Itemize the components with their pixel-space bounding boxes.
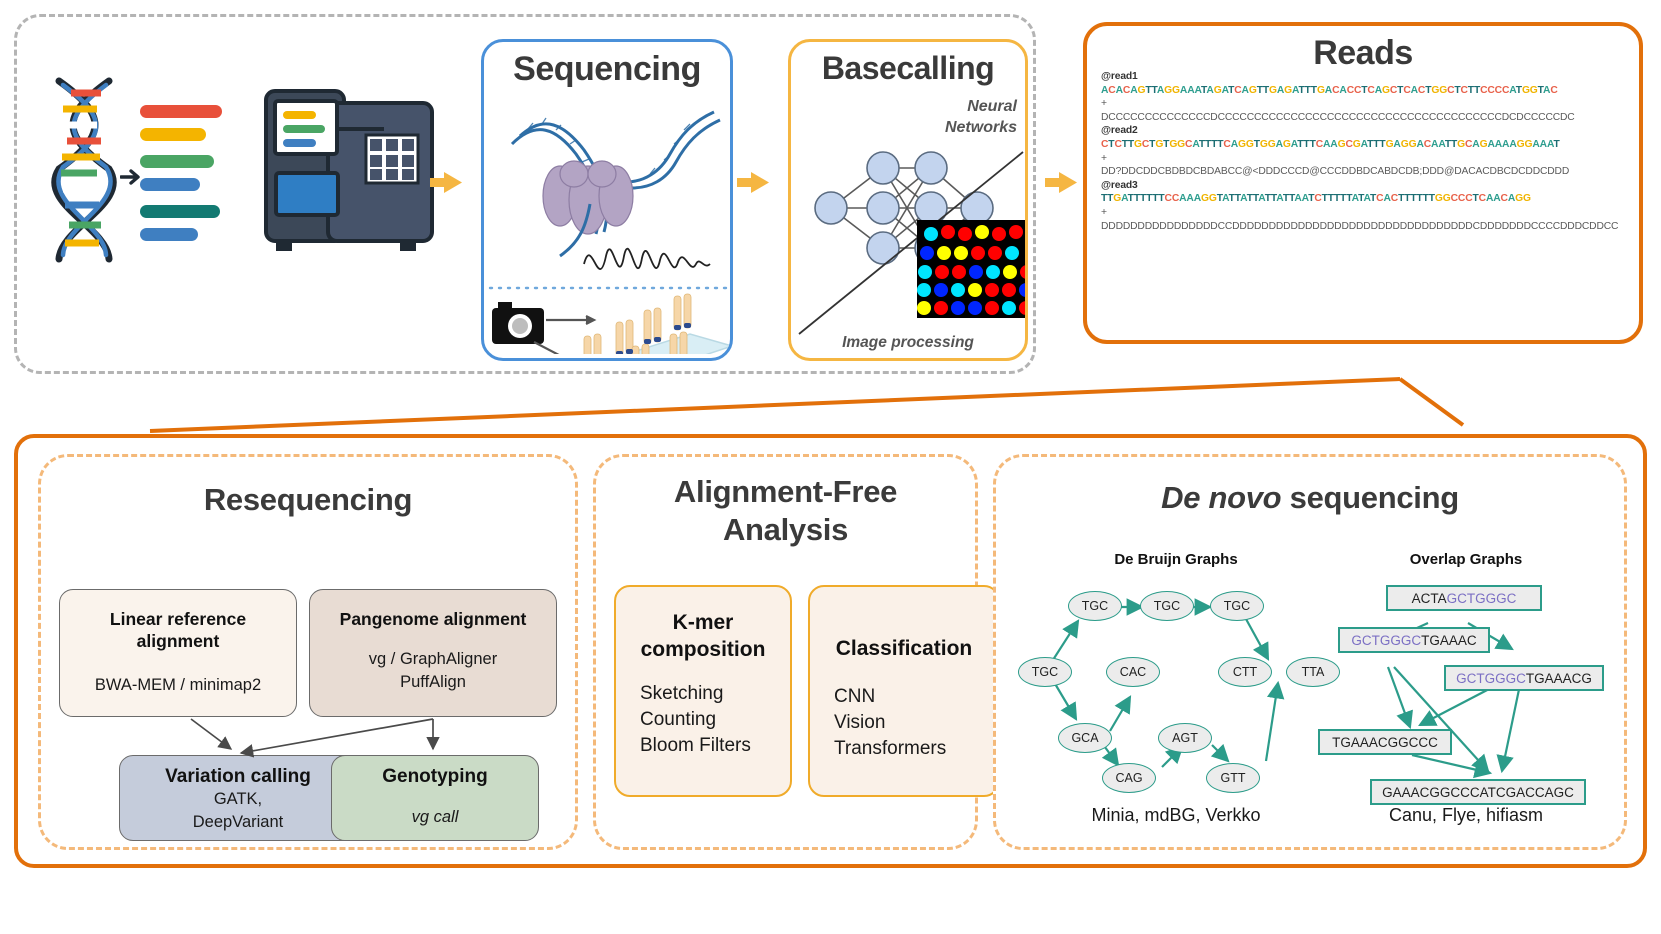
kmer-title-line2: composition	[616, 636, 790, 663]
top-stage-group: Sequencing	[14, 14, 1036, 374]
dbnode-9: CAG	[1102, 763, 1156, 793]
classification-item-2: Transformers	[834, 736, 998, 762]
camera-icon	[492, 302, 544, 344]
ovbox-4: GAAACGGCCCATCGACCAGC	[1370, 779, 1586, 805]
dna-fragments-icon	[140, 105, 225, 240]
dna-helix-icon	[45, 75, 125, 265]
ovbox-1: GCTGGGCTGAAAC	[1338, 627, 1490, 653]
panel-sequencing: Sequencing	[481, 39, 733, 361]
read-header: @read3	[1101, 179, 1629, 193]
dbnode-1: TGC	[1068, 591, 1122, 621]
kmer-item-1: Counting	[640, 707, 790, 733]
dbnode-2: TGC	[1140, 591, 1194, 621]
group-resequencing: Resequencing Linear reference alignment …	[38, 454, 578, 850]
de-bruijn-heading: De Bruijn Graphs	[1036, 551, 1316, 568]
read-plus-line: +	[1101, 206, 1629, 220]
de-novo-title-italic: De novo	[1161, 480, 1281, 515]
box-classification: Classification CNN Vision Transformers	[808, 585, 1000, 797]
dbnode-3: TGC	[1210, 591, 1264, 621]
panel-basecalling: Basecalling Neural Networks	[788, 39, 1028, 361]
ovbox-1-post: TGAAAC	[1421, 633, 1477, 648]
alignment-free-title-line1: Alignment-Free	[596, 473, 975, 511]
kmer-item-0: Sketching	[640, 681, 790, 707]
de-bruijn-footer: Minia, mdBG, Verkko	[1036, 805, 1316, 826]
read-sequence: ACACAGTTAGGAAATAGATCAGTTGAGATTTGACACCTCA…	[1101, 84, 1629, 98]
classification-title: Classification	[810, 635, 998, 662]
panel-reads: Reads @read1ACACAGTTAGGAAATAGATCAGTTGAGA…	[1083, 22, 1643, 344]
funnel-connector	[150, 379, 1463, 431]
group-alignment-free: Alignment-Free Analysis K-mer compositio…	[593, 454, 978, 850]
dbnode-0: TGC	[1018, 657, 1072, 687]
read-quality: DCCCCCCCCCCCCCCDCCCCCCCCCCCCCCCCCCCCCCCC…	[1101, 111, 1629, 125]
cluster-image-icon	[917, 220, 1028, 318]
classification-item-0: CNN	[834, 684, 998, 710]
downstream-analysis-container: Resequencing Linear reference alignment …	[14, 434, 1647, 868]
diagram-canvas: Sequencing	[0, 0, 1661, 934]
sequencer-machine-icon	[262, 77, 442, 267]
neural-network-illustration	[791, 90, 1028, 340]
image-processing-label: Image processing	[791, 334, 1025, 352]
basecalling-title: Basecalling	[791, 50, 1025, 87]
read-plus-line: +	[1101, 152, 1629, 166]
arrow-basecalling-to-reads	[1045, 172, 1077, 193]
dbnode-10: GTT	[1206, 763, 1260, 793]
read-header: @read1	[1101, 70, 1629, 84]
ovbox-2-hl: GCTGGGC	[1456, 671, 1526, 686]
read-header: @read2	[1101, 124, 1629, 138]
classification-item-1: Vision	[834, 710, 998, 736]
group-de-novo: De novo sequencing De Bruijn Graphs Over…	[993, 454, 1627, 850]
reads-title: Reads	[1087, 34, 1639, 73]
box-kmer-composition: K-mer composition Sketching Counting Blo…	[614, 585, 792, 797]
dbnode-8: AGT	[1158, 723, 1212, 753]
ovbox-0-pre: ACTA	[1412, 591, 1447, 606]
ovbox-2: GCTGGGCTGAAACG	[1444, 665, 1604, 691]
overlap-footer: Canu, Flye, hifiasm	[1326, 805, 1606, 826]
alignment-free-title-line2: Analysis	[596, 511, 975, 549]
read-sequence: TTGATTTTTTCCAAAGGTATTATTATTATTAATCTTTTTA…	[1101, 192, 1629, 206]
read-quality: DDDDDDDDDDDDDDDDCCDDDDDDDDDDDDDDDDDDDDDD…	[1101, 220, 1629, 234]
dbnode-7: GCA	[1058, 723, 1112, 753]
read-sequence: CTCTTGCTGTGGCATTTTCAGGTGGAGATTTCAAGCGATT…	[1101, 138, 1629, 152]
overlap-heading: Overlap Graphs	[1326, 551, 1606, 568]
nanopore-illustration	[484, 84, 733, 354]
ovbox-3: TGAAACGGCCC	[1318, 729, 1452, 755]
dbnode-4: CAC	[1106, 657, 1160, 687]
reads-fastq-content: @read1ACACAGTTAGGAAATAGATCAGTTGAGATTTGAC…	[1101, 70, 1629, 334]
ovbox-0: ACTAGCTGGGC	[1386, 585, 1542, 611]
ovbox-1-hl: GCTGGGC	[1351, 633, 1421, 648]
dbnode-5: CTT	[1218, 657, 1272, 687]
kmer-title-line1: K-mer	[616, 609, 790, 636]
ovbox-2-post: TGAAACG	[1526, 671, 1592, 686]
resequencing-arrows	[41, 457, 581, 853]
read-plus-line: +	[1101, 97, 1629, 111]
de-novo-title-rest: sequencing	[1281, 480, 1459, 515]
read-quality: DD?DDCDDCBDBDCBDABCC@<DDDCCCD@CCCDDBDCAB…	[1101, 165, 1629, 179]
kmer-item-2: Bloom Filters	[640, 733, 790, 759]
ovbox-0-hl: GCTGGGC	[1447, 591, 1517, 606]
